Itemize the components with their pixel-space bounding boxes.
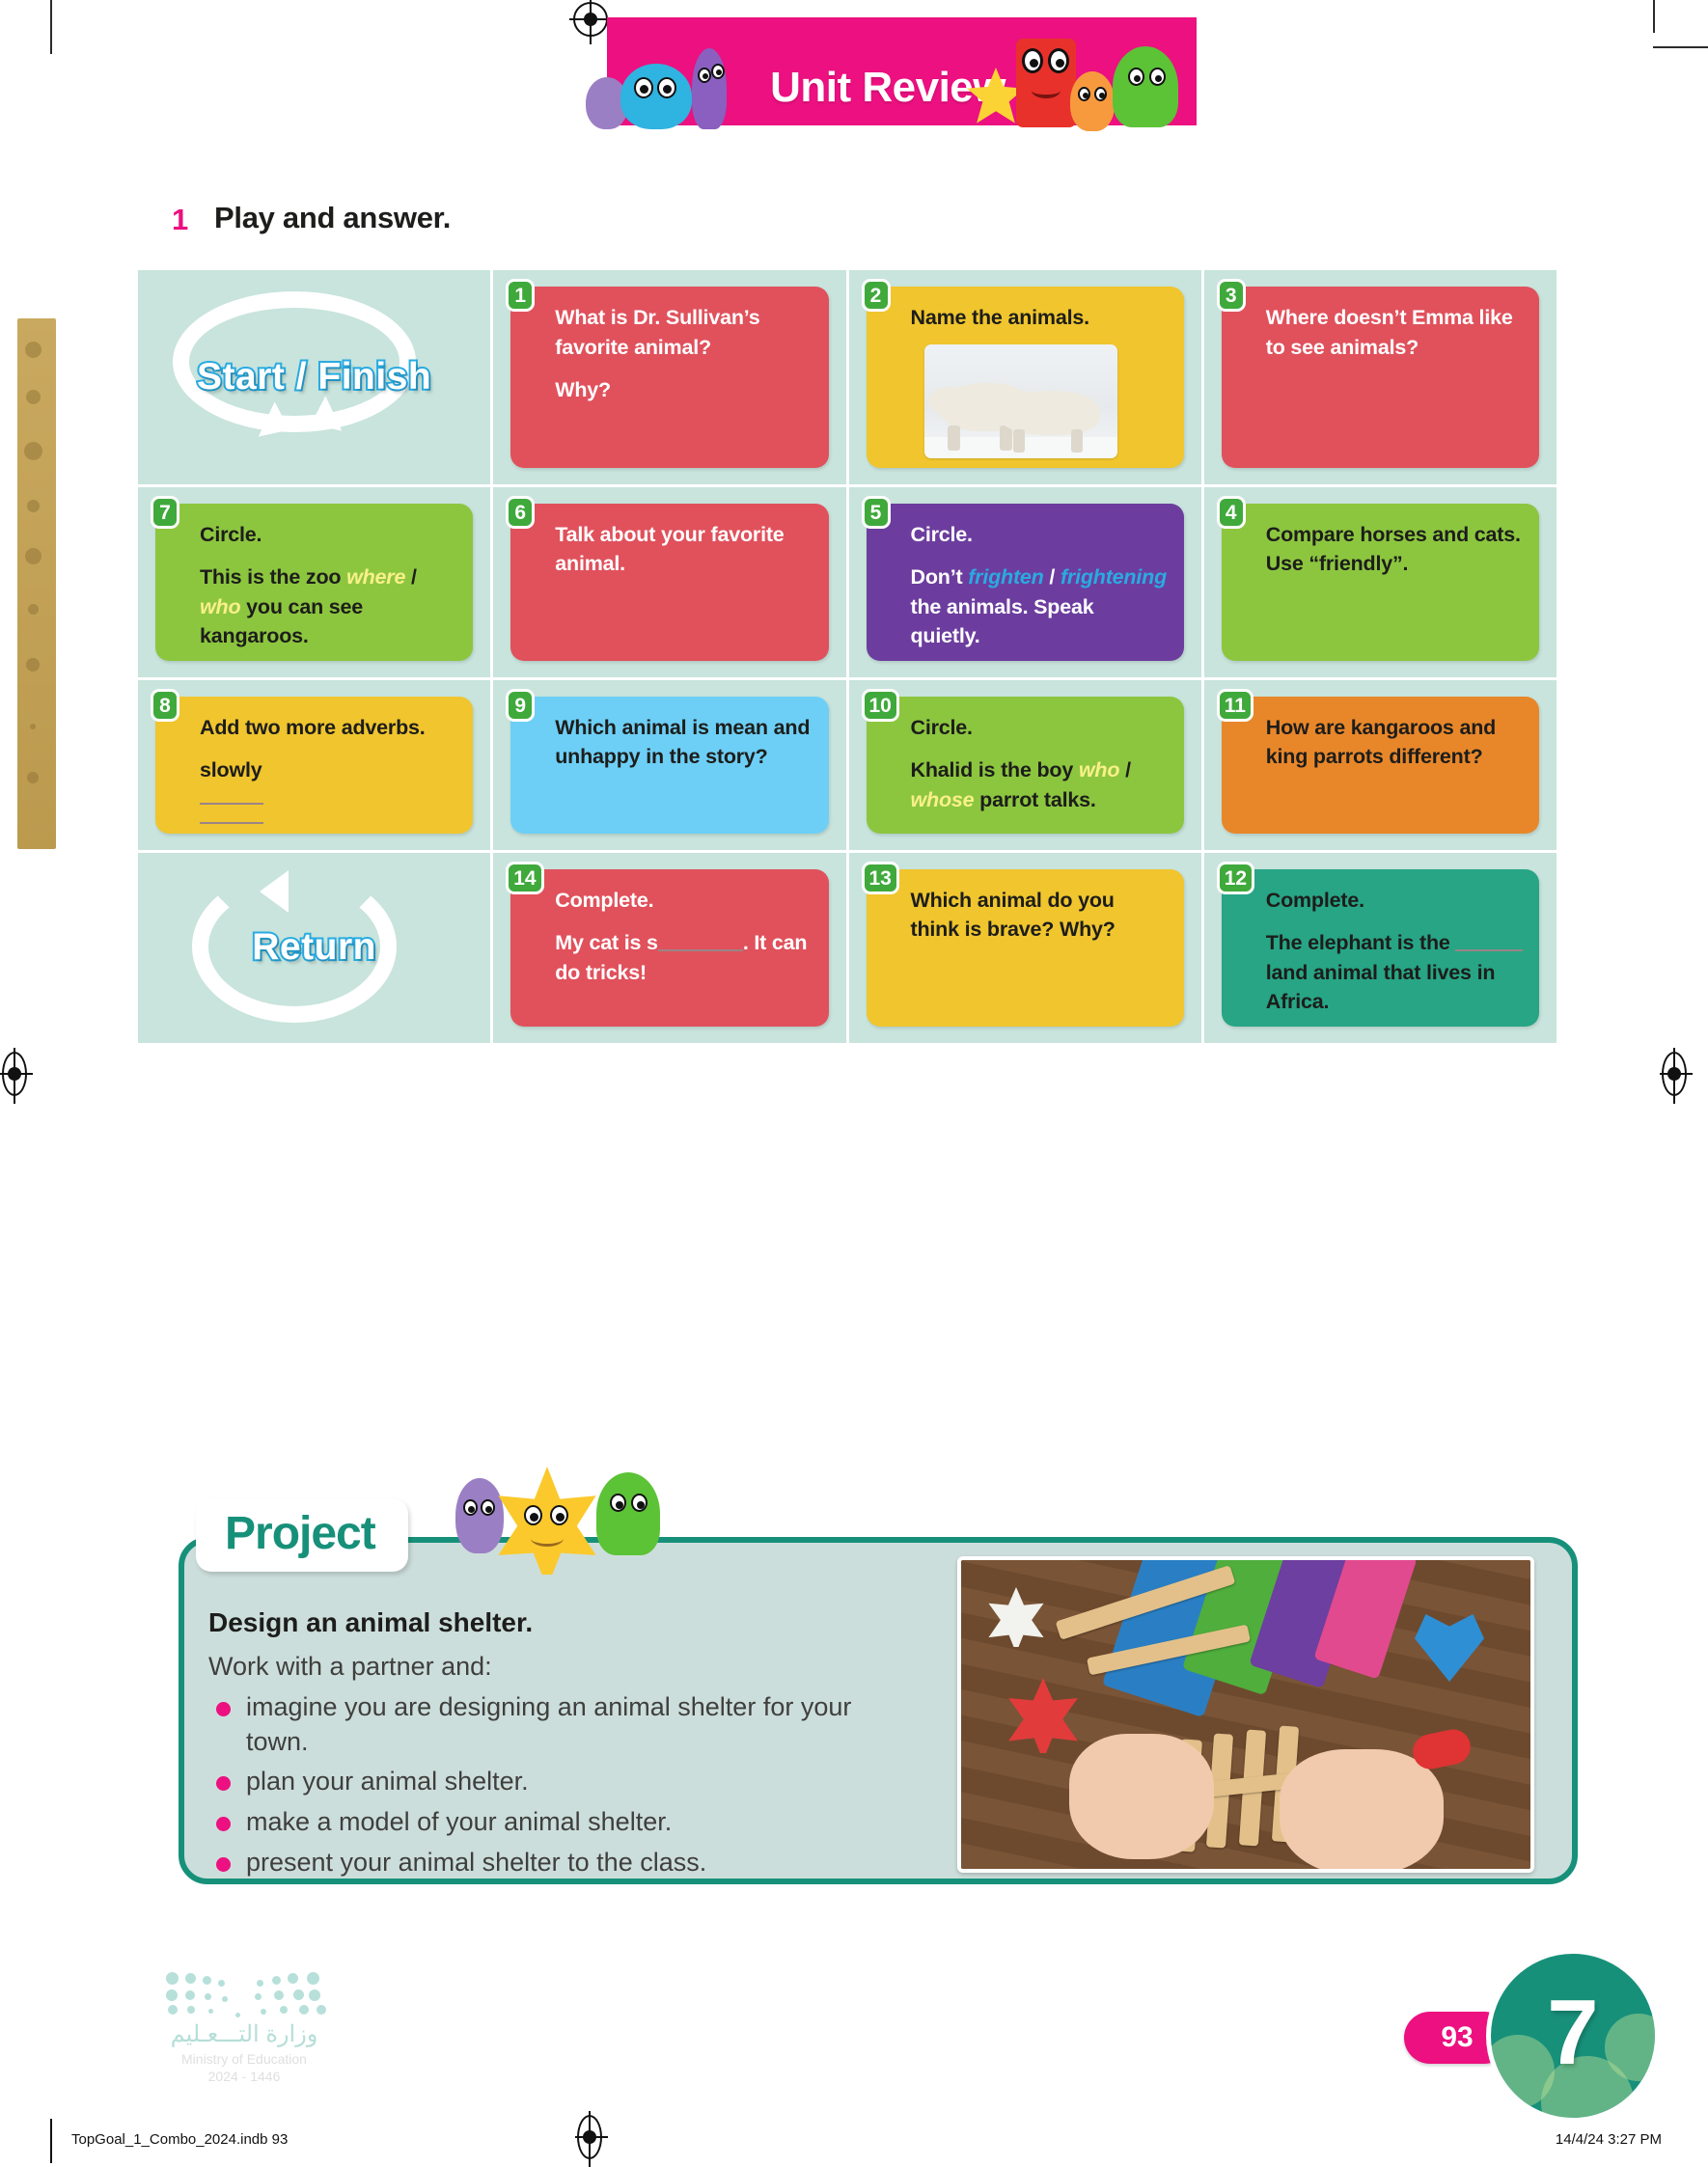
card-circle-prompt: Don’t frighten / frightening the animals… [911, 562, 1169, 651]
card-line: How are kangaroos and king parrots diffe… [1266, 713, 1524, 772]
project-bullet: imagine you are designing an animal shel… [208, 1690, 884, 1759]
card-number-badge: 3 [1217, 279, 1246, 312]
project-bullet-list: imagine you are designing an animal shel… [208, 1690, 884, 1885]
project-tab: Project [196, 1498, 408, 1572]
ministry-dots-icon [143, 1970, 345, 2016]
card-line: Compare horses and cats. Use “friendly”. [1266, 520, 1524, 579]
card-fill-prompt: My cat is s. It can do tricks! [555, 928, 813, 987]
card-line: Complete. [1266, 886, 1524, 916]
card-circle-prompt: This is the zoo where / who you can see … [200, 562, 457, 651]
textbook-page: Unit Review [0, 0, 1708, 2164]
unit-number-badge: 7 [1486, 1949, 1660, 2123]
prompt-suffix: the animals. Speak quietly. [911, 595, 1094, 648]
polar-bears-photo [924, 344, 1117, 458]
card-text: Name the animals. [911, 303, 1169, 333]
card-text: How are kangaroos and king parrots diffe… [1266, 713, 1524, 772]
board-cell-5: 5 Circle. Don’t frighten / frightening t… [849, 487, 1201, 677]
card-example-word: slowly [200, 755, 457, 785]
card-line: Add two more adverbs. [200, 713, 457, 743]
board-cell-12: 12 Complete. The elephant is the land an… [1204, 853, 1556, 1043]
card-text: Which animal is mean and unhappy in the … [555, 713, 813, 772]
fill-suffix: land animal that lives in Africa. [1266, 961, 1496, 1014]
start-finish-label: Start / Finish [197, 356, 431, 398]
answer-line-1[interactable] [200, 803, 263, 805]
prompt-prefix: This is the zoo [200, 565, 346, 589]
board-cell-8: 8 Add two more adverbs. slowly [138, 680, 490, 850]
project-bullet: plan your animal shelter. [208, 1765, 884, 1799]
board-cell-start-finish: Start / Finish [138, 270, 490, 484]
ministry-of-education-logo: وزارة التـــعـليم Ministry of Education … [143, 1970, 345, 2084]
card-number-badge: 12 [1217, 862, 1254, 894]
card-line: Talk about your favorite animal. [555, 520, 813, 579]
question-card-12[interactable]: 12 Complete. The elephant is the land an… [1222, 869, 1539, 1027]
card-line: Complete. [555, 886, 813, 916]
card-text: Add two more adverbs. slowly [200, 713, 457, 824]
choice-option-a[interactable]: where [346, 565, 405, 589]
card-text: Talk about your favorite animal. [555, 520, 813, 579]
project-photo [957, 1556, 1534, 1873]
registration-mark-right [1662, 1052, 1687, 1096]
registration-mark-bottom [577, 2115, 602, 2159]
exercise-number: 1 [172, 203, 188, 237]
prompt-prefix: Don’t [911, 565, 969, 589]
ministry-name-english: Ministry of Education [143, 2051, 345, 2067]
card-text: Where doesn’t Emma like to see animals? [1266, 303, 1524, 362]
card-line: Why? [555, 375, 813, 405]
card-number-badge: 6 [506, 496, 535, 529]
board-cell-9: 9 Which animal is mean and unhappy in th… [493, 680, 845, 850]
registration-mark-left [2, 1052, 27, 1096]
question-card-7[interactable]: 7 Circle. This is the zoo where / who yo… [155, 504, 473, 661]
ministry-years: 2024 - 1446 [143, 2069, 345, 2084]
return-label: Return [252, 926, 376, 969]
choice-option-b[interactable]: whose [911, 788, 975, 811]
card-line: Where doesn’t Emma like to see animals? [1266, 303, 1524, 362]
question-card-2[interactable]: 2 Name the animals. [867, 287, 1184, 468]
board-cell-3: 3 Where doesn’t Emma like to see animals… [1204, 270, 1556, 484]
answer-line-2[interactable] [200, 822, 263, 824]
unit-number: 7 [1547, 1980, 1598, 2086]
export-timestamp: 14/4/24 3:27 PM [1556, 2131, 1662, 2148]
question-card-4[interactable]: 4 Compare horses and cats. Use “friendly… [1222, 504, 1539, 661]
card-number-badge: 2 [862, 279, 891, 312]
card-fill-prompt: The elephant is the land animal that liv… [1266, 928, 1524, 1017]
spine-decoration-bar [17, 318, 56, 849]
card-line: Which animal do you think is brave? Why? [911, 886, 1169, 945]
prompt-prefix: Khalid is the boy [911, 758, 1079, 782]
question-card-14[interactable]: 14 Complete. My cat is s. It can do tric… [510, 869, 828, 1027]
return-arrow-head-icon [260, 870, 289, 913]
project-bullet: make a model of your animal shelter. [208, 1805, 884, 1840]
question-card-9[interactable]: 9 Which animal is mean and unhappy in th… [510, 697, 828, 834]
choice-option-b[interactable]: who [200, 595, 240, 618]
prompt-suffix: parrot talks. [974, 788, 1095, 811]
card-number-badge: 4 [1217, 496, 1246, 529]
board-cell-4: 4 Compare horses and cats. Use “friendly… [1204, 487, 1556, 677]
exercise-title: Play and answer. [214, 201, 451, 235]
card-number-badge: 1 [506, 279, 535, 312]
card-line: What is Dr. Sullivan’s favorite animal? [555, 303, 813, 362]
source-file-label: TopGoal_1_Combo_2024.indb 93 [71, 2131, 288, 2148]
card-line: Circle. [911, 520, 1169, 550]
question-card-13[interactable]: 13 Which animal do you think is brave? W… [867, 869, 1184, 1027]
card-text: Complete. The elephant is the land anima… [1266, 886, 1524, 1017]
choice-option-a[interactable]: frighten [968, 565, 1043, 589]
question-card-10[interactable]: 10 Circle. Khalid is the boy who / whose… [867, 697, 1184, 834]
card-number-badge: 11 [1217, 689, 1253, 722]
card-line: Circle. [200, 520, 457, 550]
board-cell-6: 6 Talk about your favorite animal. [493, 487, 845, 677]
card-text: What is Dr. Sullivan’s favorite animal? … [555, 303, 813, 405]
board-cell-2: 2 Name the animals. [849, 270, 1201, 484]
board-cell-7: 7 Circle. This is the zoo where / who yo… [138, 487, 490, 677]
monster-green-project-icon [596, 1472, 660, 1555]
card-circle-prompt: Khalid is the boy who / whose parrot tal… [911, 755, 1169, 814]
footer-rule [50, 2119, 52, 2163]
card-text: Complete. My cat is s. It can do tricks! [555, 886, 813, 988]
question-card-5[interactable]: 5 Circle. Don’t frighten / frightening t… [867, 504, 1184, 661]
card-text: Circle. This is the zoo where / who you … [200, 520, 457, 651]
card-text: Circle. Khalid is the boy who / whose pa… [911, 713, 1169, 815]
card-number-badge: 13 [862, 862, 899, 894]
card-line: Name the animals. [911, 303, 1169, 333]
card-number-badge: 7 [151, 496, 179, 529]
monster-red-block-icon [1016, 39, 1076, 127]
card-text: Circle. Don’t frighten / frightening the… [911, 520, 1169, 651]
question-card-3[interactable]: 3 Where doesn’t Emma like to see animals… [1222, 287, 1539, 468]
monster-blue-icon [620, 64, 692, 129]
board-game-grid: Start / Finish 1 What is Dr. Sullivan’s … [138, 270, 1556, 996]
question-card-1[interactable]: 1 What is Dr. Sullivan’s favorite animal… [510, 287, 828, 468]
project-tab-label: Project [225, 1508, 375, 1559]
card-line: Circle. [911, 713, 1169, 743]
card-text: Compare horses and cats. Use “friendly”. [1266, 520, 1524, 579]
question-card-6[interactable]: 6 Talk about your favorite animal. [510, 504, 828, 661]
project-subheading: Work with a partner and: [208, 1652, 492, 1682]
monster-green-icon [1113, 46, 1178, 127]
board-cell-14: 14 Complete. My cat is s. It can do tric… [493, 853, 845, 1043]
project-bullet: present your animal shelter to the class… [208, 1846, 884, 1880]
registration-mark-top [573, 2, 608, 37]
answer-blank[interactable] [658, 949, 743, 951]
board-cell-11: 11 How are kangaroos and king parrots di… [1204, 680, 1556, 850]
card-number-badge: 5 [862, 496, 891, 529]
crop-mark-right [1653, 46, 1708, 48]
crop-mark-top-right [1653, 0, 1655, 33]
board-cell-1: 1 What is Dr. Sullivan’s favorite animal… [493, 270, 845, 484]
card-text: Which animal do you think is brave? Why? [911, 886, 1169, 945]
monster-orange-icon [1070, 71, 1115, 131]
fill-prefix: My cat is s [555, 931, 658, 954]
card-number-badge: 8 [151, 689, 179, 722]
card-line: Which animal is mean and unhappy in the … [555, 713, 813, 772]
card-number-badge: 10 [862, 689, 899, 722]
board-cell-10: 10 Circle. Khalid is the boy who / whose… [849, 680, 1201, 850]
board-cell-return: Return [138, 853, 490, 1043]
question-card-11[interactable]: 11 How are kangaroos and king parrots di… [1222, 697, 1539, 834]
question-card-8[interactable]: 8 Add two more adverbs. slowly [155, 697, 473, 834]
card-number-badge: 14 [506, 862, 543, 894]
answer-blank[interactable] [1455, 949, 1523, 951]
choice-option-a[interactable]: who [1079, 758, 1119, 782]
project-heading: Design an animal shelter. [208, 1607, 533, 1638]
unit-review-banner: Unit Review [607, 17, 1197, 125]
crop-mark-top-left [50, 0, 52, 54]
card-number-badge: 9 [506, 689, 535, 722]
banner-title: Unit Review [770, 64, 1006, 112]
ministry-name-arabic: وزارة التـــعـليم [143, 2020, 345, 2048]
board-cell-13: 13 Which animal do you think is brave? W… [849, 853, 1201, 1043]
monster-purple-project-icon [455, 1478, 504, 1553]
fill-prefix: The elephant is the [1266, 931, 1456, 954]
monster-violet-tall-icon [692, 48, 727, 129]
choice-option-b[interactable]: frightening [1061, 565, 1167, 589]
